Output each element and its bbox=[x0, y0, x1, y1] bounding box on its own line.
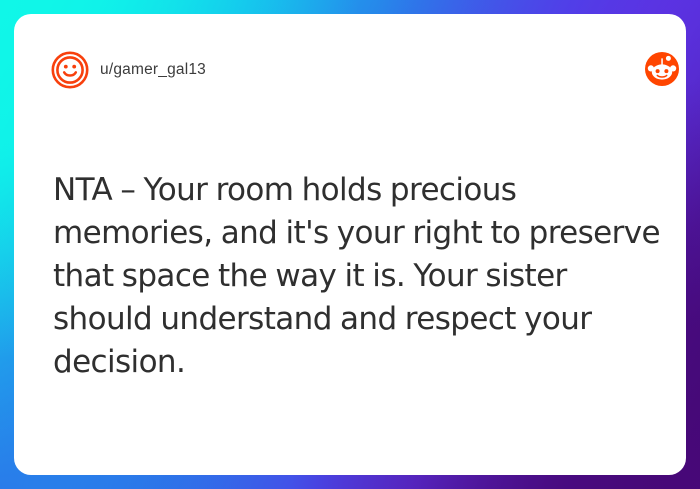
reddit-snoo-icon[interactable] bbox=[644, 51, 680, 87]
reddit-comment-card: u/gamer_gal13 NTA – Your bbox=[14, 14, 686, 475]
smiley-face-avatar-icon[interactable] bbox=[50, 50, 90, 90]
card-header: u/gamer_gal13 bbox=[14, 14, 686, 110]
screenshot-stage: u/gamer_gal13 NTA – Your bbox=[0, 0, 700, 489]
username-label[interactable]: u/gamer_gal13 bbox=[100, 61, 206, 79]
post-body-text: NTA – Your room holds precious memories,… bbox=[53, 169, 665, 384]
